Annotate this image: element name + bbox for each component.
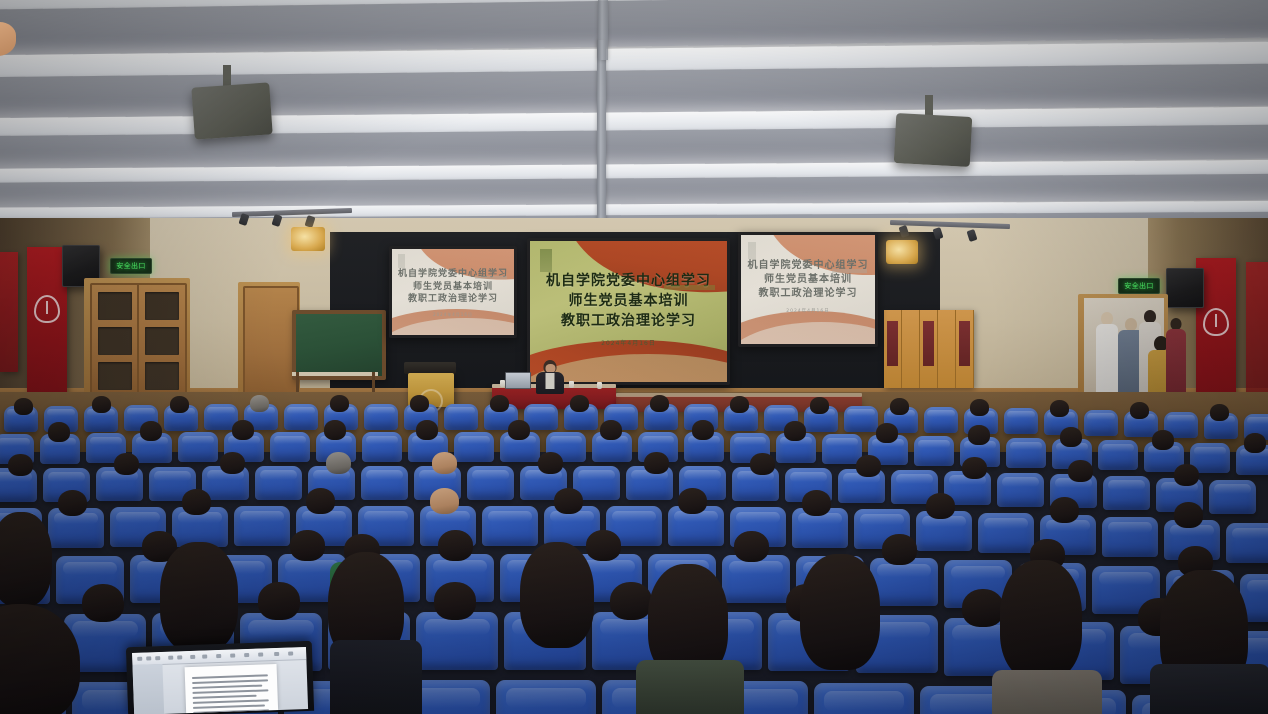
exit-sign-left: 安全出口 <box>110 258 152 274</box>
audience-head <box>610 582 652 620</box>
left-side-screen: 机自学院党委中心组学习 师生党员基本培训 教职工政治理论学习 2024年4月16… <box>389 246 517 338</box>
seat[interactable] <box>361 466 408 500</box>
audience-head <box>876 423 898 443</box>
audience-head <box>490 395 509 412</box>
red-banner-left-far <box>0 252 18 372</box>
audience-head <box>600 420 622 440</box>
seat[interactable] <box>362 432 402 462</box>
slide-date: 2024年4月16日 <box>392 312 514 318</box>
document-text-line <box>192 685 262 689</box>
audience-head <box>1152 430 1174 450</box>
audience-head <box>14 398 33 415</box>
toolbar-icon[interactable] <box>230 653 235 657</box>
toolbar-icon[interactable] <box>146 656 151 660</box>
seat[interactable] <box>822 434 862 464</box>
seat[interactable] <box>997 473 1044 507</box>
water-cup <box>500 380 505 387</box>
audience-head <box>1050 497 1079 523</box>
slide-tag <box>475 276 507 279</box>
document-text-line <box>192 689 268 693</box>
seat[interactable] <box>1102 517 1158 557</box>
audience-head <box>1068 460 1093 482</box>
slide-line-3: 教职工政治理论学习 <box>530 312 727 332</box>
seat[interactable] <box>844 406 878 432</box>
document-text-line <box>193 699 269 703</box>
audience-head <box>306 488 335 514</box>
audience-torso <box>992 670 1102 714</box>
seat[interactable] <box>482 506 538 546</box>
audience-head <box>182 489 211 515</box>
toolbar-icon[interactable] <box>177 655 182 659</box>
toolbar-icon[interactable] <box>202 654 207 658</box>
audience-head <box>114 453 139 475</box>
toolbar-icon[interactable] <box>155 656 160 660</box>
door-panel <box>145 292 179 320</box>
audience-head <box>232 420 254 440</box>
audience-head <box>692 420 714 440</box>
partition-panel <box>902 310 920 388</box>
slide-surface-right: 机自学院党委中心组学习 师生党员基本培训 教职工政治理论学习 2024年4月16… <box>741 235 875 344</box>
seat[interactable] <box>444 404 478 430</box>
seat[interactable] <box>978 513 1034 553</box>
seat[interactable] <box>234 506 290 546</box>
audience-head-foreground <box>1000 560 1082 680</box>
audience-head <box>416 420 438 440</box>
audience-head <box>962 589 1004 627</box>
toolbar-icon[interactable] <box>216 654 221 658</box>
camera-drop-pole <box>597 40 606 238</box>
slide-line-3: 教职工政治理论学习 <box>392 293 514 306</box>
toolbar-icon[interactable] <box>137 657 142 661</box>
slide-corner-logo <box>748 242 756 259</box>
audience-head <box>586 530 621 561</box>
audience-torso <box>330 640 422 714</box>
partition-panel <box>938 310 956 388</box>
single-door[interactable] <box>243 286 299 399</box>
door-right-leaf[interactable] <box>137 283 187 399</box>
audience-head <box>784 421 806 441</box>
audience-head <box>140 421 162 441</box>
ceiling-pole-upper <box>598 0 608 60</box>
audience-head <box>1060 427 1082 447</box>
audience-head-bald <box>430 488 459 514</box>
seat[interactable] <box>870 558 938 606</box>
seat[interactable] <box>1209 480 1256 514</box>
seat[interactable] <box>1103 476 1150 510</box>
laptop-document-page[interactable] <box>185 664 279 713</box>
audience-head <box>970 399 989 416</box>
seat[interactable] <box>270 432 310 462</box>
slide-corner-logo <box>540 249 552 272</box>
seat[interactable] <box>1226 523 1268 563</box>
partition-panel <box>884 310 902 388</box>
audience-head <box>926 493 955 519</box>
audience-head <box>330 395 349 412</box>
presenter-shirt <box>546 373 555 389</box>
audience-head <box>82 584 124 622</box>
seated-presenter <box>533 360 567 394</box>
audience-head-foreground <box>520 542 594 648</box>
toolbar-icon[interactable] <box>288 651 293 655</box>
toolbar-icon[interactable] <box>168 656 173 660</box>
person-body <box>1166 329 1186 397</box>
audience-head <box>410 395 429 412</box>
audience-head <box>508 420 530 440</box>
seat[interactable] <box>814 683 914 714</box>
audience-head <box>1244 433 1266 453</box>
audience-head <box>734 531 769 562</box>
audience-head-foreground <box>800 554 880 670</box>
slide-text-block: 机自学院党委中心组学习 师生党员基本培训 教职工政治理论学习 2024年4月16… <box>530 272 727 347</box>
slide-text-block: 机自学院党委中心组学习 师生党员基本培训 教职工政治理论学习 2024年4月16… <box>741 259 875 314</box>
slide-line-2: 师生党员基本培训 <box>741 273 875 287</box>
seat[interactable] <box>1084 410 1118 436</box>
seat[interactable] <box>1004 408 1038 434</box>
seat[interactable] <box>255 466 302 500</box>
toolbar-icon[interactable] <box>258 652 263 656</box>
audience-head-foreground <box>160 542 238 652</box>
seat[interactable] <box>416 612 498 670</box>
audience-head <box>250 395 269 412</box>
seat[interactable] <box>924 407 958 433</box>
audience-head <box>810 397 829 414</box>
water-cup <box>597 382 602 389</box>
red-banner-left <box>27 247 67 395</box>
document-text-line <box>192 674 268 678</box>
seat[interactable] <box>178 432 218 462</box>
seat[interactable] <box>496 680 596 714</box>
audience-head <box>438 530 473 561</box>
university-logo-icon <box>34 295 60 323</box>
exit-sign-label: 安全出口 <box>1124 281 1154 291</box>
slide-date: 2024年4月16日 <box>741 308 875 314</box>
laptop-sidebar-pane[interactable] <box>132 664 164 714</box>
wall-speaker-right <box>1166 268 1204 308</box>
seat[interactable] <box>722 555 790 603</box>
audience-head <box>730 396 749 413</box>
seat[interactable] <box>284 404 318 430</box>
university-logo-icon <box>1203 308 1229 336</box>
door-panel <box>98 327 132 355</box>
door-panel <box>98 362 132 390</box>
audience-head <box>1050 400 1069 417</box>
document-text-line <box>193 704 265 708</box>
toolbar-icon[interactable] <box>244 653 249 657</box>
door-left-leaf[interactable] <box>90 283 140 399</box>
ceiling-speaker-left <box>191 82 272 139</box>
seat[interactable] <box>1006 438 1046 468</box>
seat[interactable] <box>914 436 954 466</box>
audience-head <box>1174 464 1199 486</box>
toolbar-icon[interactable] <box>274 652 279 656</box>
audience-head <box>570 395 589 412</box>
audience-head <box>58 490 87 516</box>
partition-panel <box>920 310 938 388</box>
chalk-tray <box>292 372 378 376</box>
slide-corner-logo <box>398 254 405 268</box>
slide-line-3: 教职工政治理论学习 <box>741 287 875 301</box>
slide-surface-left: 机自学院党委中心组学习 师生党员基本培训 教职工政治理论学习 2024年4月16… <box>392 249 514 335</box>
water-cup <box>569 381 574 388</box>
audience-head-bald <box>432 452 457 474</box>
standing-person <box>1166 318 1186 398</box>
audience-head <box>326 452 351 474</box>
audience-head <box>1210 404 1229 421</box>
audience-head <box>220 452 245 474</box>
seat[interactable] <box>1098 440 1138 470</box>
red-banner-right-far <box>1246 262 1268 392</box>
audience-head <box>290 530 325 561</box>
audience-head <box>750 453 775 475</box>
audience-head <box>890 398 909 415</box>
door-panel <box>145 327 179 355</box>
audience-head <box>92 396 111 413</box>
lecture-hall-photo: 安全出口 安全出口 <box>0 0 1268 714</box>
seat[interactable] <box>454 432 494 462</box>
audience-head <box>882 534 917 565</box>
audience-head <box>324 420 346 440</box>
audience-head <box>1174 502 1203 528</box>
exit-sign-right: 安全出口 <box>1118 278 1160 294</box>
exit-sign-label: 安全出口 <box>116 261 146 271</box>
warm-wall-lamp-left <box>291 227 325 251</box>
foreground-laptop[interactable] <box>126 641 314 714</box>
audience-head <box>170 396 189 413</box>
toolbar-icon[interactable] <box>190 655 195 659</box>
audience-head <box>538 452 563 474</box>
slide-tag <box>832 269 867 273</box>
audience-head-foreground <box>0 512 52 607</box>
audience-head <box>802 490 831 516</box>
laptop-screen[interactable] <box>132 647 308 714</box>
folding-partition-screen <box>884 310 974 388</box>
audience-head <box>8 454 33 476</box>
audience-head <box>1130 402 1149 419</box>
audience-torso <box>1150 664 1268 714</box>
audience-head <box>48 422 70 442</box>
slide-line-2: 师生党员基本培训 <box>530 292 727 312</box>
audience-head <box>968 425 990 445</box>
audience-head <box>434 582 476 620</box>
partition-panel <box>956 310 974 388</box>
audience-torso <box>636 660 744 714</box>
slide-tag <box>664 285 715 291</box>
audience-head <box>258 582 300 620</box>
warm-wall-lamp-right <box>886 240 918 264</box>
audience-head <box>644 452 669 474</box>
slide-line-2: 师生党员基本培训 <box>392 281 514 294</box>
standing-person <box>1096 312 1118 404</box>
document-text-line <box>192 679 268 683</box>
audience-head <box>962 457 987 479</box>
seat[interactable] <box>467 466 514 500</box>
chalkboard <box>292 310 386 380</box>
seat[interactable] <box>364 404 398 430</box>
ceiling-speaker-right <box>894 113 973 167</box>
presenter-laptop <box>505 372 531 389</box>
speaker-mount-stem <box>223 65 231 87</box>
door-panel <box>145 362 179 390</box>
right-side-screen: 机自学院党委中心组学习 师生党员基本培训 教职工政治理论学习 2024年4月16… <box>738 232 878 347</box>
slide-date: 2024年4月16日 <box>530 338 727 347</box>
audience-head <box>678 488 707 514</box>
document-text-line <box>193 695 257 699</box>
audience-head <box>650 395 669 412</box>
audience-head <box>554 488 583 514</box>
door-panel <box>98 292 132 320</box>
audience-head <box>856 455 881 477</box>
